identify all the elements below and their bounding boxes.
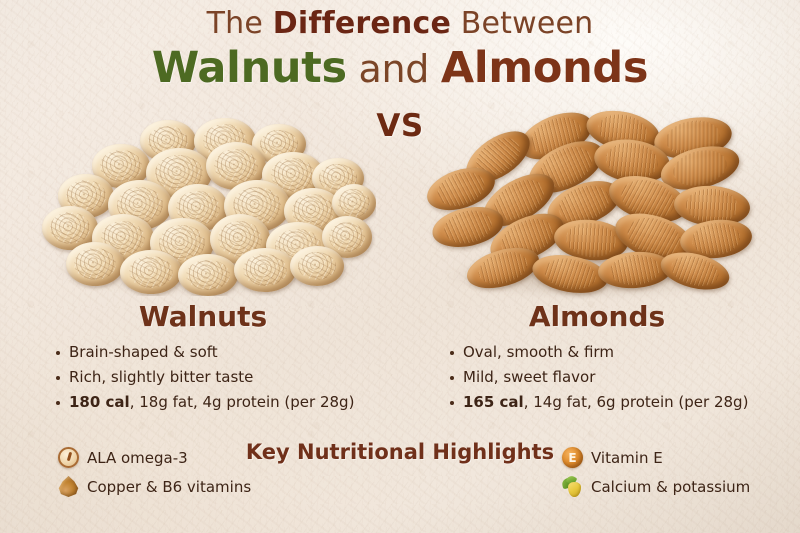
walnut-pile	[36, 118, 376, 296]
highlight-item: E Vitamin E	[562, 443, 750, 472]
bullet-text: , 14g fat, 6g protein (per 28g)	[524, 393, 749, 411]
bullet-text: Rich, slightly bitter taste	[69, 368, 253, 386]
title-block: The Difference Between Walnuts and Almon…	[0, 6, 800, 94]
infographic-canvas: The Difference Between Walnuts and Almon…	[0, 0, 800, 533]
highlight-label: Calcium & potassium	[591, 478, 750, 496]
title-line-2: Walnuts and Almonds	[0, 43, 800, 94]
highlight-label: ALA omega-3	[87, 449, 188, 467]
vitamin-e-pill-icon: E	[562, 447, 583, 468]
list-item: Brain-shaped & soft	[56, 340, 392, 365]
calorie-value: 165 cal	[463, 393, 524, 411]
walnut-highlights-group: ALA omega-3 Copper & B6 vitamins	[58, 443, 251, 501]
title-line-1: The Difference Between	[0, 6, 800, 42]
walnuts-photo	[36, 118, 376, 296]
almonds-heading: Almonds	[408, 300, 786, 334]
bullet-text: Mild, sweet flavor	[463, 368, 595, 386]
title-prefix: The	[207, 6, 273, 41]
highlight-label: Copper & B6 vitamins	[87, 478, 251, 496]
bullet-text: , 18g fat, 4g protein (per 28g)	[130, 393, 355, 411]
highlight-item: Calcium & potassium	[562, 472, 750, 501]
almond-highlights-group: E Vitamin E Calcium & potassium	[562, 443, 750, 501]
highlight-item: Copper & B6 vitamins	[58, 472, 251, 501]
almonds-bullet-list: Oval, smooth & firm Mild, sweet flavor 1…	[408, 340, 786, 415]
title-conjunction: and	[347, 47, 441, 91]
list-item: Oval, smooth & firm	[450, 340, 786, 365]
list-item: 165 cal, 14g fat, 6g protein (per 28g)	[450, 390, 786, 415]
highlight-item: ALA omega-3	[58, 443, 251, 472]
list-item: Rich, slightly bitter taste	[56, 365, 392, 390]
bullet-text: Oval, smooth & firm	[463, 343, 614, 361]
walnuts-bullet-list: Brain-shaped & soft Rich, slightly bitte…	[14, 340, 392, 415]
copper-droplet-icon	[58, 476, 79, 497]
list-item: Mild, sweet flavor	[450, 365, 786, 390]
omega-capsule-icon	[58, 447, 79, 468]
vegetable-icon	[562, 476, 583, 497]
versus-label: VS	[0, 108, 800, 144]
title-walnuts: Walnuts	[152, 43, 347, 93]
title-suffix: Between	[451, 6, 593, 41]
list-item: 180 cal, 18g fat, 4g protein (per 28g)	[56, 390, 392, 415]
walnuts-column: Walnuts Brain-shaped & soft Rich, slight…	[14, 300, 392, 415]
highlight-label: Vitamin E	[591, 449, 663, 467]
title-almonds: Almonds	[441, 43, 648, 93]
calorie-value: 180 cal	[69, 393, 130, 411]
bullet-text: Brain-shaped & soft	[69, 343, 218, 361]
title-emphasis: Difference	[273, 6, 451, 41]
vegetable-body-shape	[568, 482, 581, 497]
walnuts-heading: Walnuts	[14, 300, 392, 334]
almonds-column: Almonds Oval, smooth & firm Mild, sweet …	[408, 300, 786, 415]
